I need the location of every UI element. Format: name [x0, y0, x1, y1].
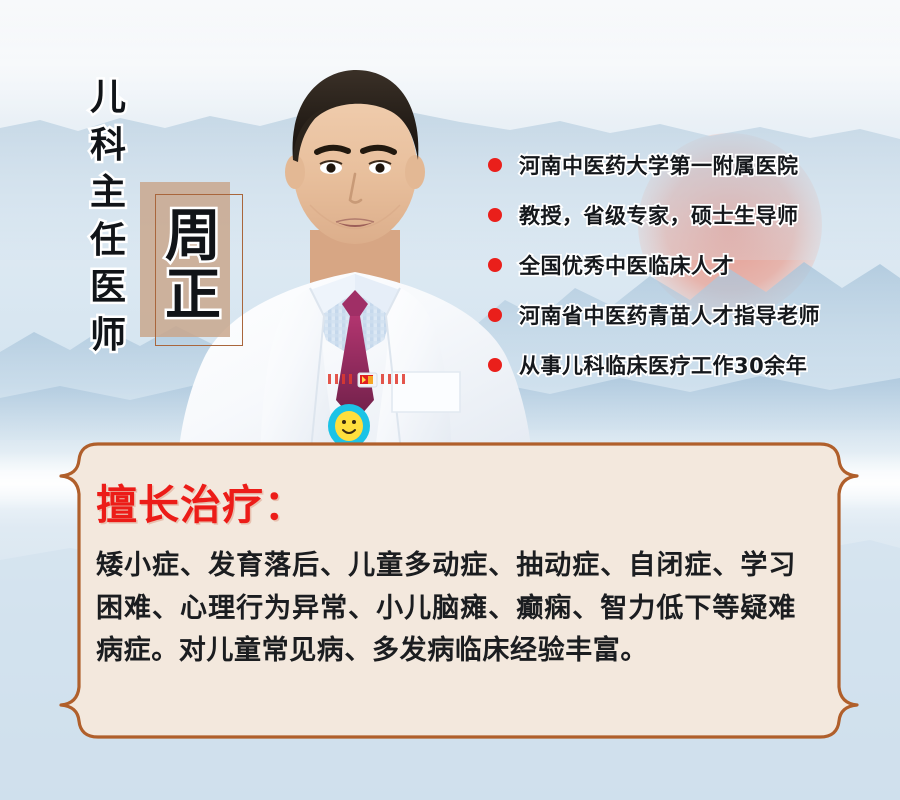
credentials-list: 河南中医药大学第一附属医院 教授，省级专家，硕士生导师 全国优秀中医临床人才 河…	[488, 140, 888, 390]
specialty-panel: 擅长治疗： 矮小症、发育落后、儿童多动症、抽动症、自闭症、学习困难、心理行为异常…	[58, 441, 860, 740]
list-item: 河南省中医药青苗人才指导老师	[488, 290, 888, 340]
banner-canvas: 儿 科 主 任 医 师 周 正 河南中医药大学第一附属医院 教授，省级专家，硕士…	[0, 0, 900, 800]
list-item: 河南中医药大学第一附属医院	[488, 140, 888, 190]
vertical-title-char-6: 师	[90, 312, 126, 360]
specialty-body: 矮小症、发育落后、儿童多动症、抽动症、自闭症、学习困难、心理行为异常、小儿脑瘫、…	[96, 545, 796, 673]
bullet-dot-icon	[488, 308, 502, 322]
credential-text: 河南省中医药青苗人才指导老师	[519, 300, 820, 330]
doctor-name-char-1: 周	[165, 207, 221, 266]
specialty-heading: 擅长治疗：	[96, 471, 826, 531]
doctor-name: 周 正	[150, 190, 236, 342]
vertical-title: 儿 科 主 任 医 师	[78, 74, 138, 359]
list-item: 全国优秀中医临床人才	[488, 240, 888, 290]
credential-text: 河南中医药大学第一附属医院	[519, 150, 799, 180]
vertical-title-char-3: 主	[90, 169, 126, 217]
lapel-pin-icon	[358, 373, 377, 387]
vertical-title-char-4: 任	[90, 217, 126, 265]
vertical-title-char-5: 医	[90, 264, 126, 312]
bullet-dot-icon	[488, 208, 502, 222]
vertical-title-char-1: 儿	[90, 74, 126, 122]
doctor-name-plate: 周 正	[140, 182, 252, 347]
credential-text: 从事儿科临床医疗工作30余年	[519, 350, 807, 380]
bullet-dot-icon	[488, 158, 502, 172]
credential-text: 全国优秀中医临床人才	[519, 250, 734, 280]
credential-text: 教授，省级专家，硕士生导师	[519, 200, 799, 230]
vertical-title-char-2: 科	[90, 122, 126, 170]
list-item: 教授，省级专家，硕士生导师	[488, 190, 888, 240]
bullet-dot-icon	[488, 258, 502, 272]
doctor-name-char-2: 正	[165, 266, 221, 325]
bullet-dot-icon	[488, 358, 502, 372]
list-item: 从事儿科临床医疗工作30余年	[488, 340, 888, 390]
